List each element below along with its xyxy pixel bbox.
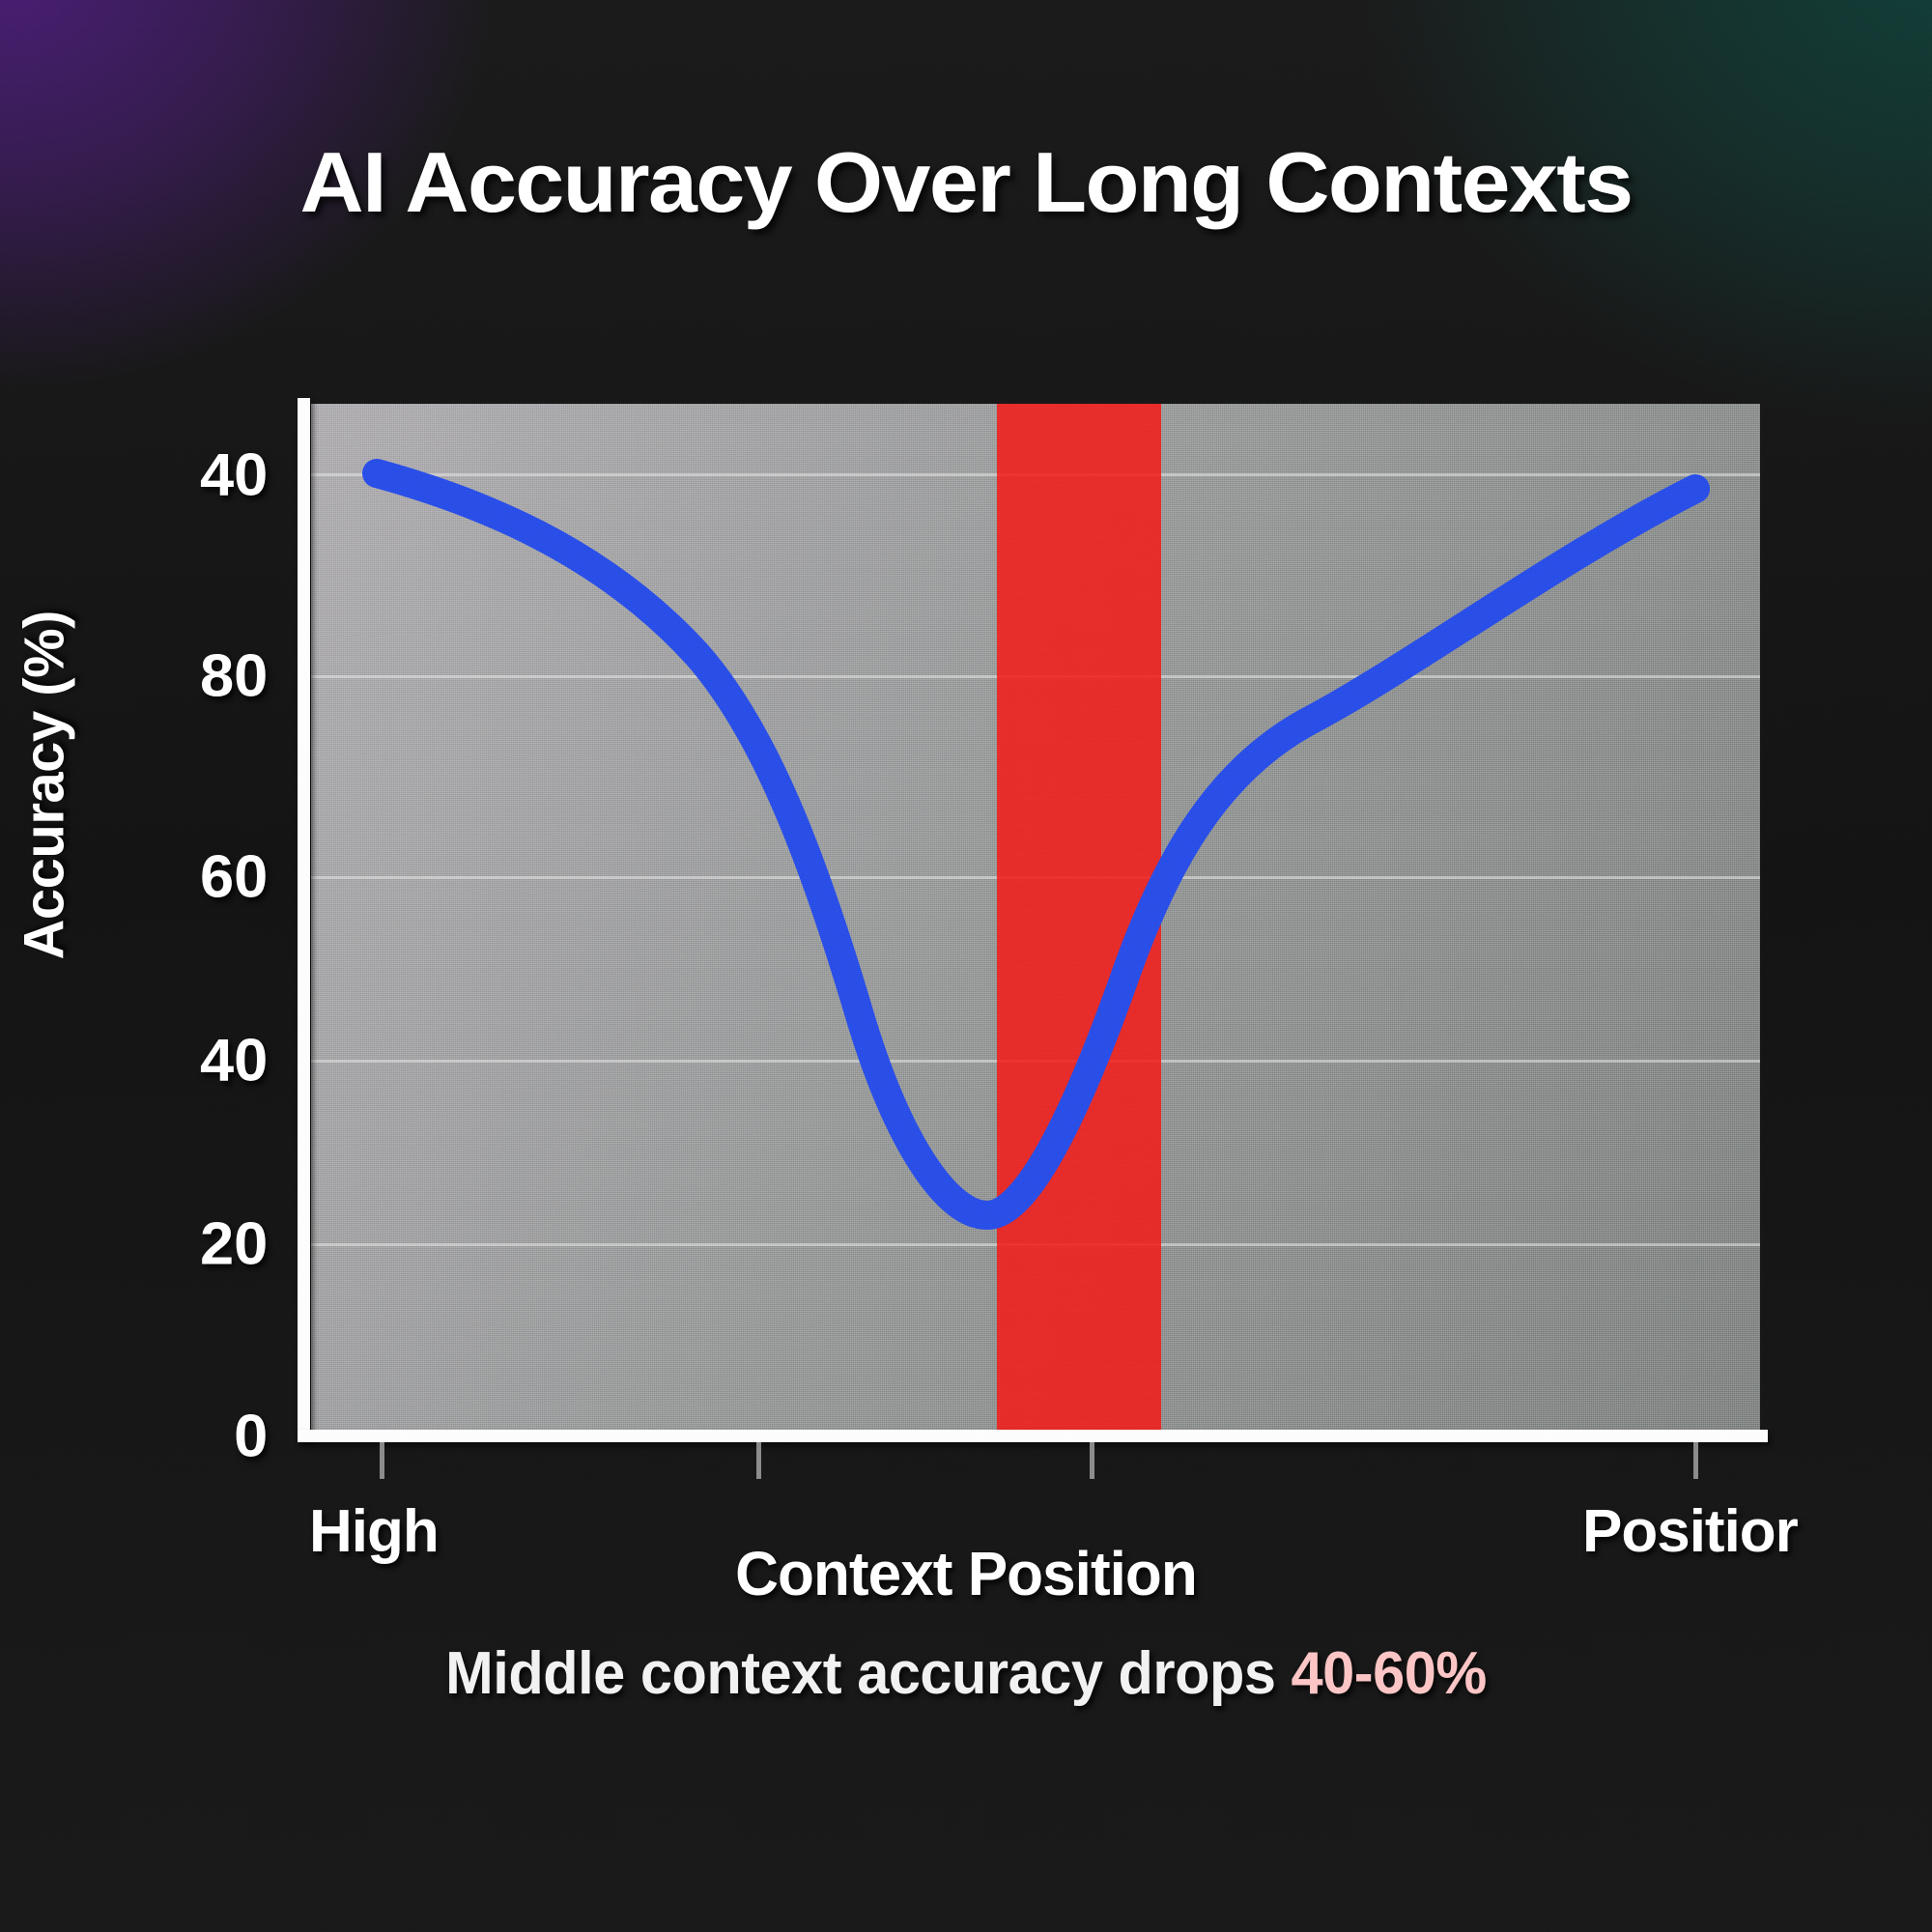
x-tick-mark bbox=[380, 1442, 384, 1479]
x-axis-title: Context Position bbox=[29, 1538, 1903, 1609]
chart-poster: AI Accuracy Over Long Contexts Accuracy … bbox=[0, 0, 1932, 1932]
caption: Middle context accuracy drops 40-60% bbox=[39, 1639, 1893, 1708]
y-tick-label: 60 bbox=[42, 843, 269, 912]
plot-area bbox=[311, 404, 1760, 1435]
accuracy-line-series bbox=[311, 404, 1760, 1435]
page-title: AI Accuracy Over Long Contexts bbox=[0, 133, 1932, 232]
y-axis-spine bbox=[298, 398, 310, 1441]
y-tick-label: 40 bbox=[42, 441, 269, 510]
y-tick-label: 80 bbox=[42, 642, 269, 711]
x-axis-spine bbox=[298, 1430, 1768, 1442]
x-tick-mark bbox=[1693, 1442, 1698, 1479]
y-tick-label: 20 bbox=[42, 1210, 269, 1279]
x-tick-mark bbox=[756, 1442, 761, 1479]
accuracy-curve-path bbox=[377, 473, 1695, 1215]
y-tick-label: 40 bbox=[42, 1027, 269, 1095]
x-tick-mark bbox=[1090, 1442, 1094, 1479]
caption-highlight: 40-60% bbox=[1292, 1640, 1487, 1707]
y-tick-label: 0 bbox=[42, 1403, 269, 1471]
caption-text: Middle context accuracy drops bbox=[445, 1640, 1291, 1707]
